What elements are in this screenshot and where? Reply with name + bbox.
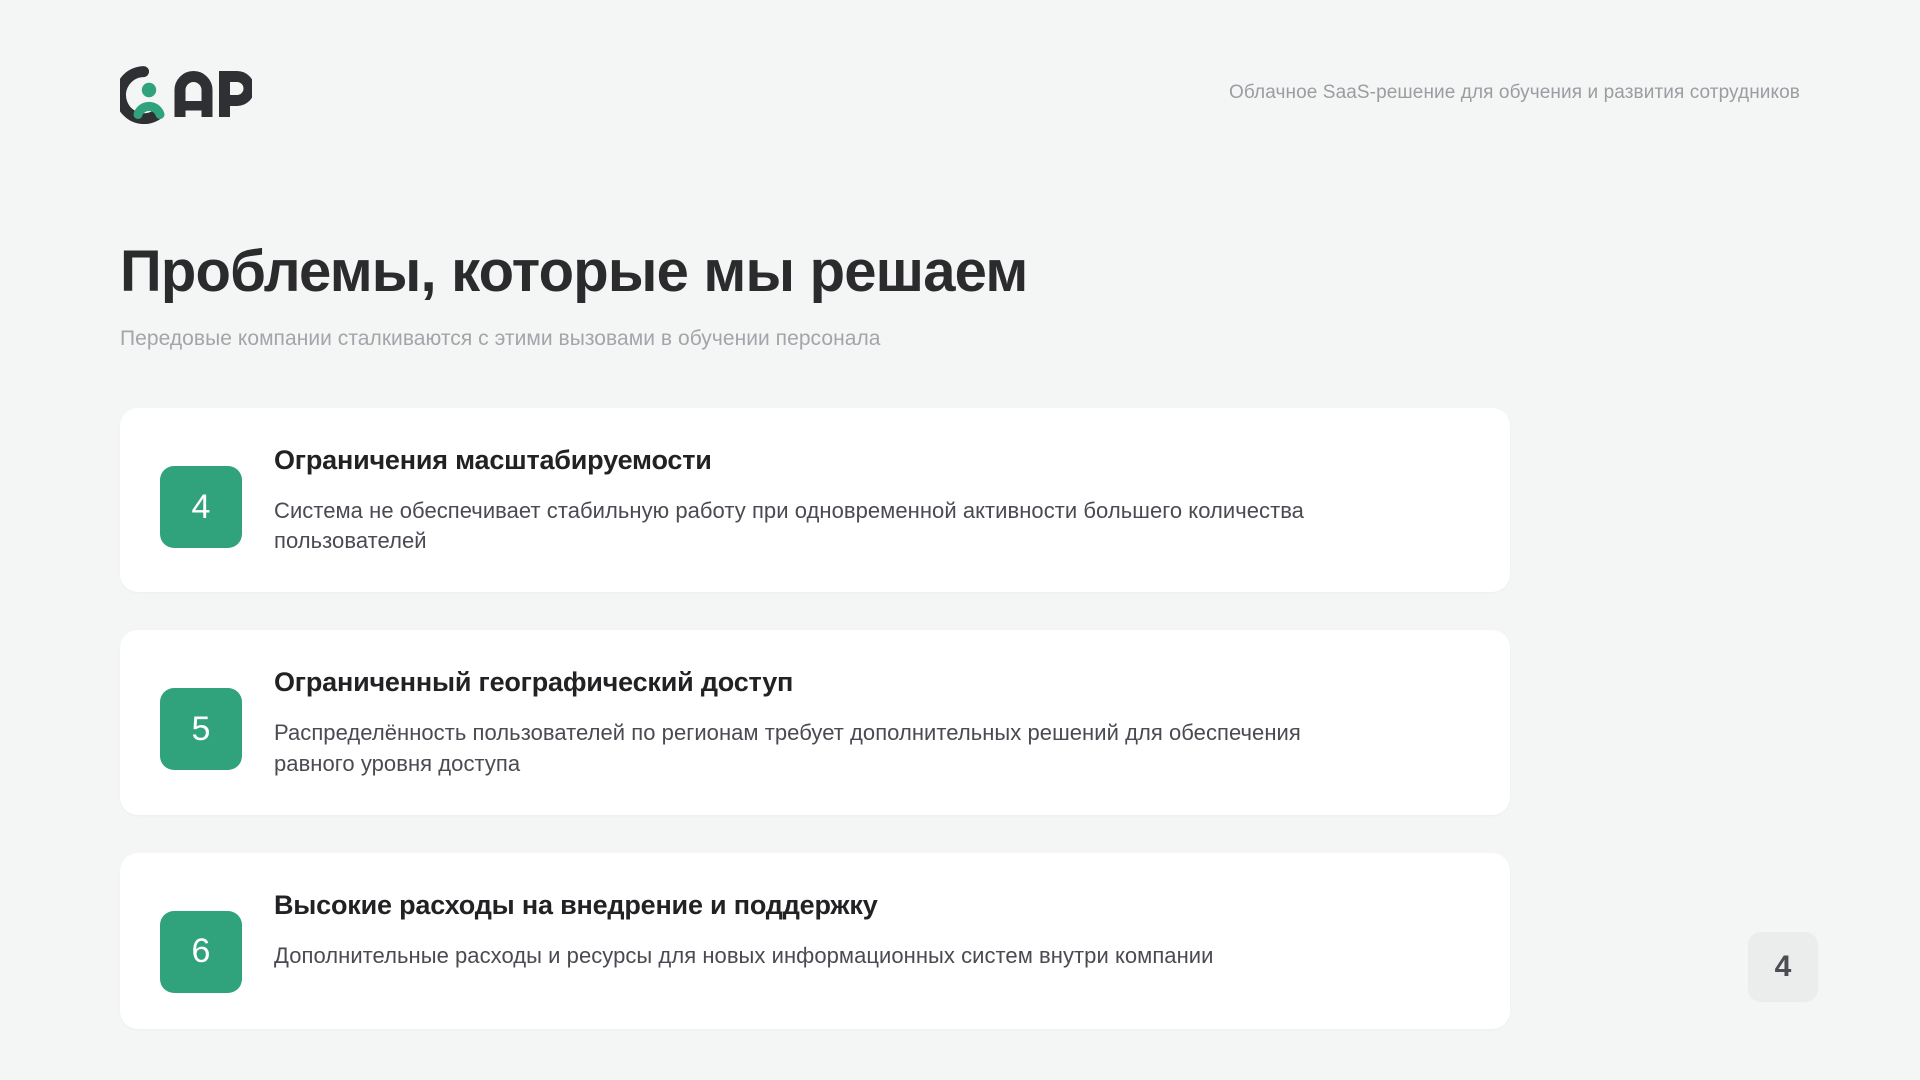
page-title: Проблемы, которые мы решаем: [120, 240, 1800, 305]
problem-card-number-badge: 5: [160, 688, 242, 770]
slide-header: CAP Облачное SaaS-решение для обучения и…: [120, 58, 1800, 128]
title-block: Проблемы, которые мы решаем Передовые ко…: [120, 240, 1800, 351]
problem-card-title: Ограниченный географический доступ: [274, 666, 1470, 700]
problem-card-description: Дополнительные расходы и ресурсы для нов…: [274, 941, 1334, 971]
page-subtitle: Передовые компании сталкиваются с этими …: [120, 327, 1800, 351]
problem-card-body: Высокие расходы на внедрение и поддержку…: [274, 887, 1470, 971]
problem-card[interactable]: 4 Ограничения масштабируемости Система н…: [120, 408, 1510, 592]
problem-card-description: Система не обеспечивает стабильную работ…: [274, 496, 1334, 557]
problem-card[interactable]: 5 Ограниченный географический доступ Рас…: [120, 630, 1510, 814]
problem-card-description: Распределённость пользователей по регион…: [274, 718, 1334, 779]
slide: CAP Облачное SaaS-решение для обучения и…: [0, 0, 1920, 1080]
problem-card-body: Ограничения масштабируемости Система не …: [274, 442, 1470, 556]
problem-card-title: Ограничения масштабируемости: [274, 444, 1470, 478]
problem-card-number-badge: 6: [160, 911, 242, 993]
cap-logo[interactable]: CAP: [120, 62, 252, 124]
problem-card-body: Ограниченный географический доступ Распр…: [274, 664, 1470, 778]
slide-page-number: 4: [1748, 932, 1818, 1002]
cap-logo-icon: [120, 62, 252, 124]
problem-card-number-badge: 4: [160, 466, 242, 548]
problem-card-list: 4 Ограничения масштабируемости Система н…: [120, 408, 1510, 1029]
problem-card[interactable]: 6 Высокие расходы на внедрение и поддерж…: [120, 853, 1510, 1029]
problem-card-title: Высокие расходы на внедрение и поддержку: [274, 889, 1470, 923]
header-tagline: Облачное SaaS-решение для обучения и раз…: [1229, 82, 1800, 104]
